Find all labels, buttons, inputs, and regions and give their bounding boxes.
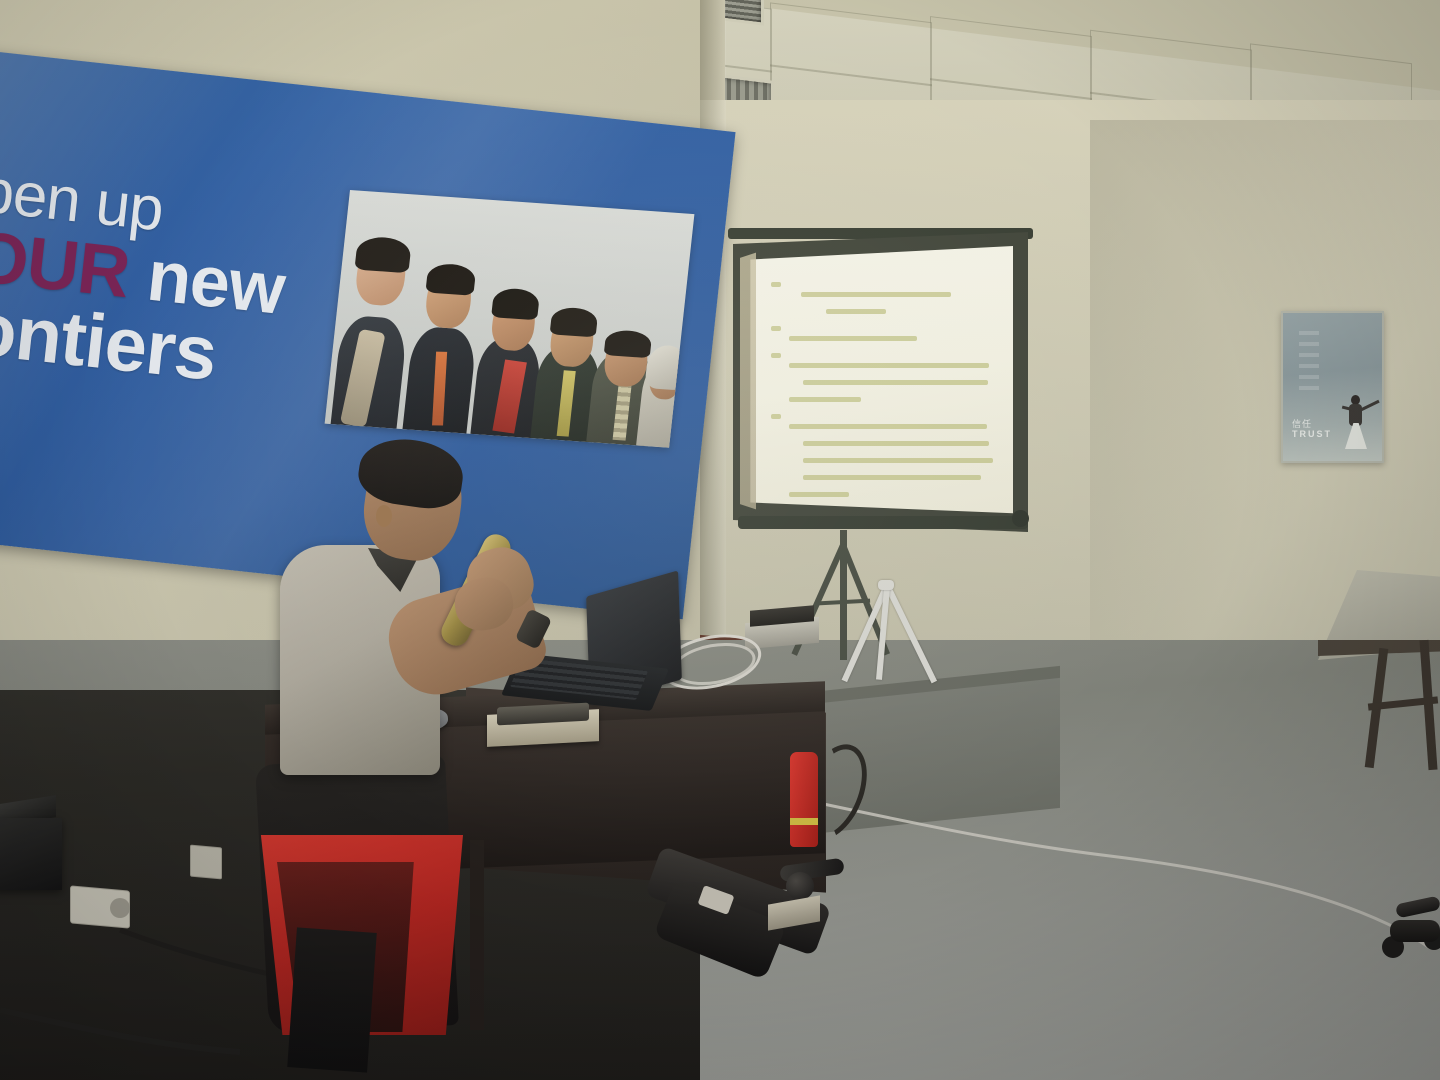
white-stand-top [878,580,894,590]
banner-person-1 [331,235,417,428]
speaker-box [0,818,62,890]
screen-pull-knob[interactable] [1012,510,1029,527]
slide-line [803,441,989,446]
office-chair-base [1390,920,1440,942]
slide-line [801,292,951,297]
screen-bottom-bar [738,516,1028,529]
projection-screen-surface [745,246,1013,516]
slide-line [789,336,917,341]
screen-left-edge [740,250,756,512]
slide-line [803,458,993,463]
slide-line [826,309,886,314]
stand-knob [786,872,814,900]
slide-line [789,363,989,368]
slide-line [771,326,781,331]
slide-line [789,492,849,497]
poster-figure-icon [1342,395,1368,457]
power-plug[interactable] [110,898,130,918]
poster-text-block: 信任 TRUST [1292,420,1332,439]
person-shin [287,927,377,1072]
banner-text-block: Open up YOUR new frontiers [0,156,334,404]
slide-line [771,282,781,287]
desk-leg [470,840,484,1030]
poster-top-glyphs [1299,331,1319,391]
slide-line [771,353,781,358]
slide-line [803,475,981,480]
person-ear [376,505,392,527]
poster-english-text: TRUST [1292,430,1332,439]
slide-line [803,380,988,385]
wall-poster: 信任 TRUST [1281,311,1384,463]
slide-line [789,424,987,429]
wall-outlet-upper[interactable] [190,845,222,880]
slide-line [771,414,781,419]
slide-line [789,397,861,402]
banner-photo-strip [325,190,695,448]
photo-scene: Open up YOUR new frontiers [0,0,1440,1080]
